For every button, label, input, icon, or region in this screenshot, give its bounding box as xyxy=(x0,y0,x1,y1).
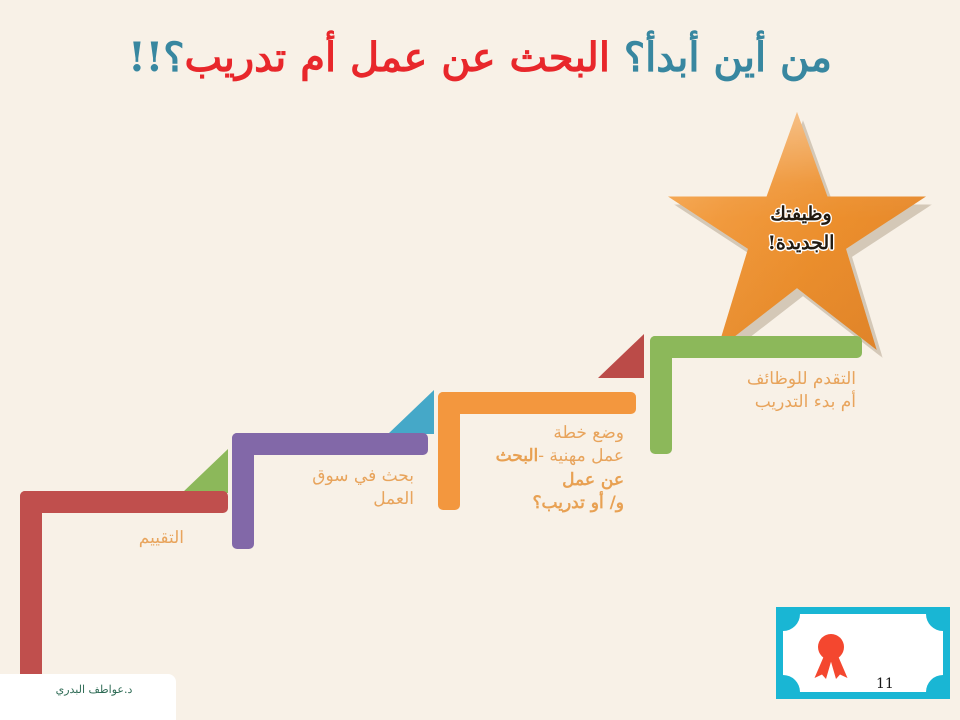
star-label: وظيفتك الجديدة! xyxy=(726,200,876,259)
step-career-plan: وضع خطة عمل مهنية -البحث عن عمل و/ أو تد… xyxy=(438,392,636,510)
certificate-ribbon-icon xyxy=(811,632,851,680)
step-apply-bar-vertical xyxy=(650,336,672,454)
step-evaluation-bar-horizontal xyxy=(20,491,228,513)
certificate-corner-bottom-left xyxy=(783,675,800,692)
star-label-line2: الجديدة! xyxy=(726,229,876,258)
step-evaluation-label: التقييم xyxy=(54,527,184,550)
step-apply-bar-horizontal xyxy=(650,336,862,358)
author-box xyxy=(0,674,176,720)
title-segment-punctuation: ؟!! xyxy=(128,34,184,81)
certificate-inner-panel xyxy=(783,614,943,692)
step-apply-label: التقدم للوظائف أم بدء التدريب xyxy=(680,368,856,415)
title-segment-main: البحث عن عمل أم تدريب xyxy=(184,34,610,81)
page-number: 11 xyxy=(876,676,894,692)
step-career-plan-bar-horizontal xyxy=(438,392,636,414)
step-market-research-bar-vertical xyxy=(232,433,254,549)
star-label-line1: وظيفتك xyxy=(726,200,876,229)
certificate-corner-top-right xyxy=(926,614,943,631)
star-callout: وظيفتك الجديدة! xyxy=(668,112,926,350)
step-market-research-label: بحث في سوق العمل xyxy=(264,465,414,512)
page-title: من أين أبدأ؟ البحث عن عمل أم تدريب؟!! xyxy=(0,36,960,80)
triangle-green xyxy=(182,449,228,493)
certificate-corner-top-left xyxy=(783,614,800,631)
triangle-teal xyxy=(388,390,434,434)
step-career-plan-label: وضع خطة عمل مهنية -البحث عن عمل و/ أو تد… xyxy=(468,422,624,516)
author-name: د.عواطف البدري xyxy=(14,683,174,696)
triangle-maroon xyxy=(598,334,644,378)
certificate-corner-bottom-right xyxy=(926,675,943,692)
step-market-research-bar-horizontal xyxy=(232,433,428,455)
step-market-research: بحث في سوق العمل xyxy=(232,433,428,549)
step-career-plan-bar-vertical xyxy=(438,392,460,510)
step-apply: التقدم للوظائف أم بدء التدريب xyxy=(650,336,862,454)
certificate-ribbon-logo xyxy=(776,607,950,699)
slide-canvas: من أين أبدأ؟ البحث عن عمل أم تدريب؟!! وظ… xyxy=(0,0,960,720)
step-career-plan-label-plain: وضع خطة عمل مهنية - xyxy=(538,423,624,466)
title-segment-question: من أين أبدأ؟ xyxy=(610,34,832,81)
